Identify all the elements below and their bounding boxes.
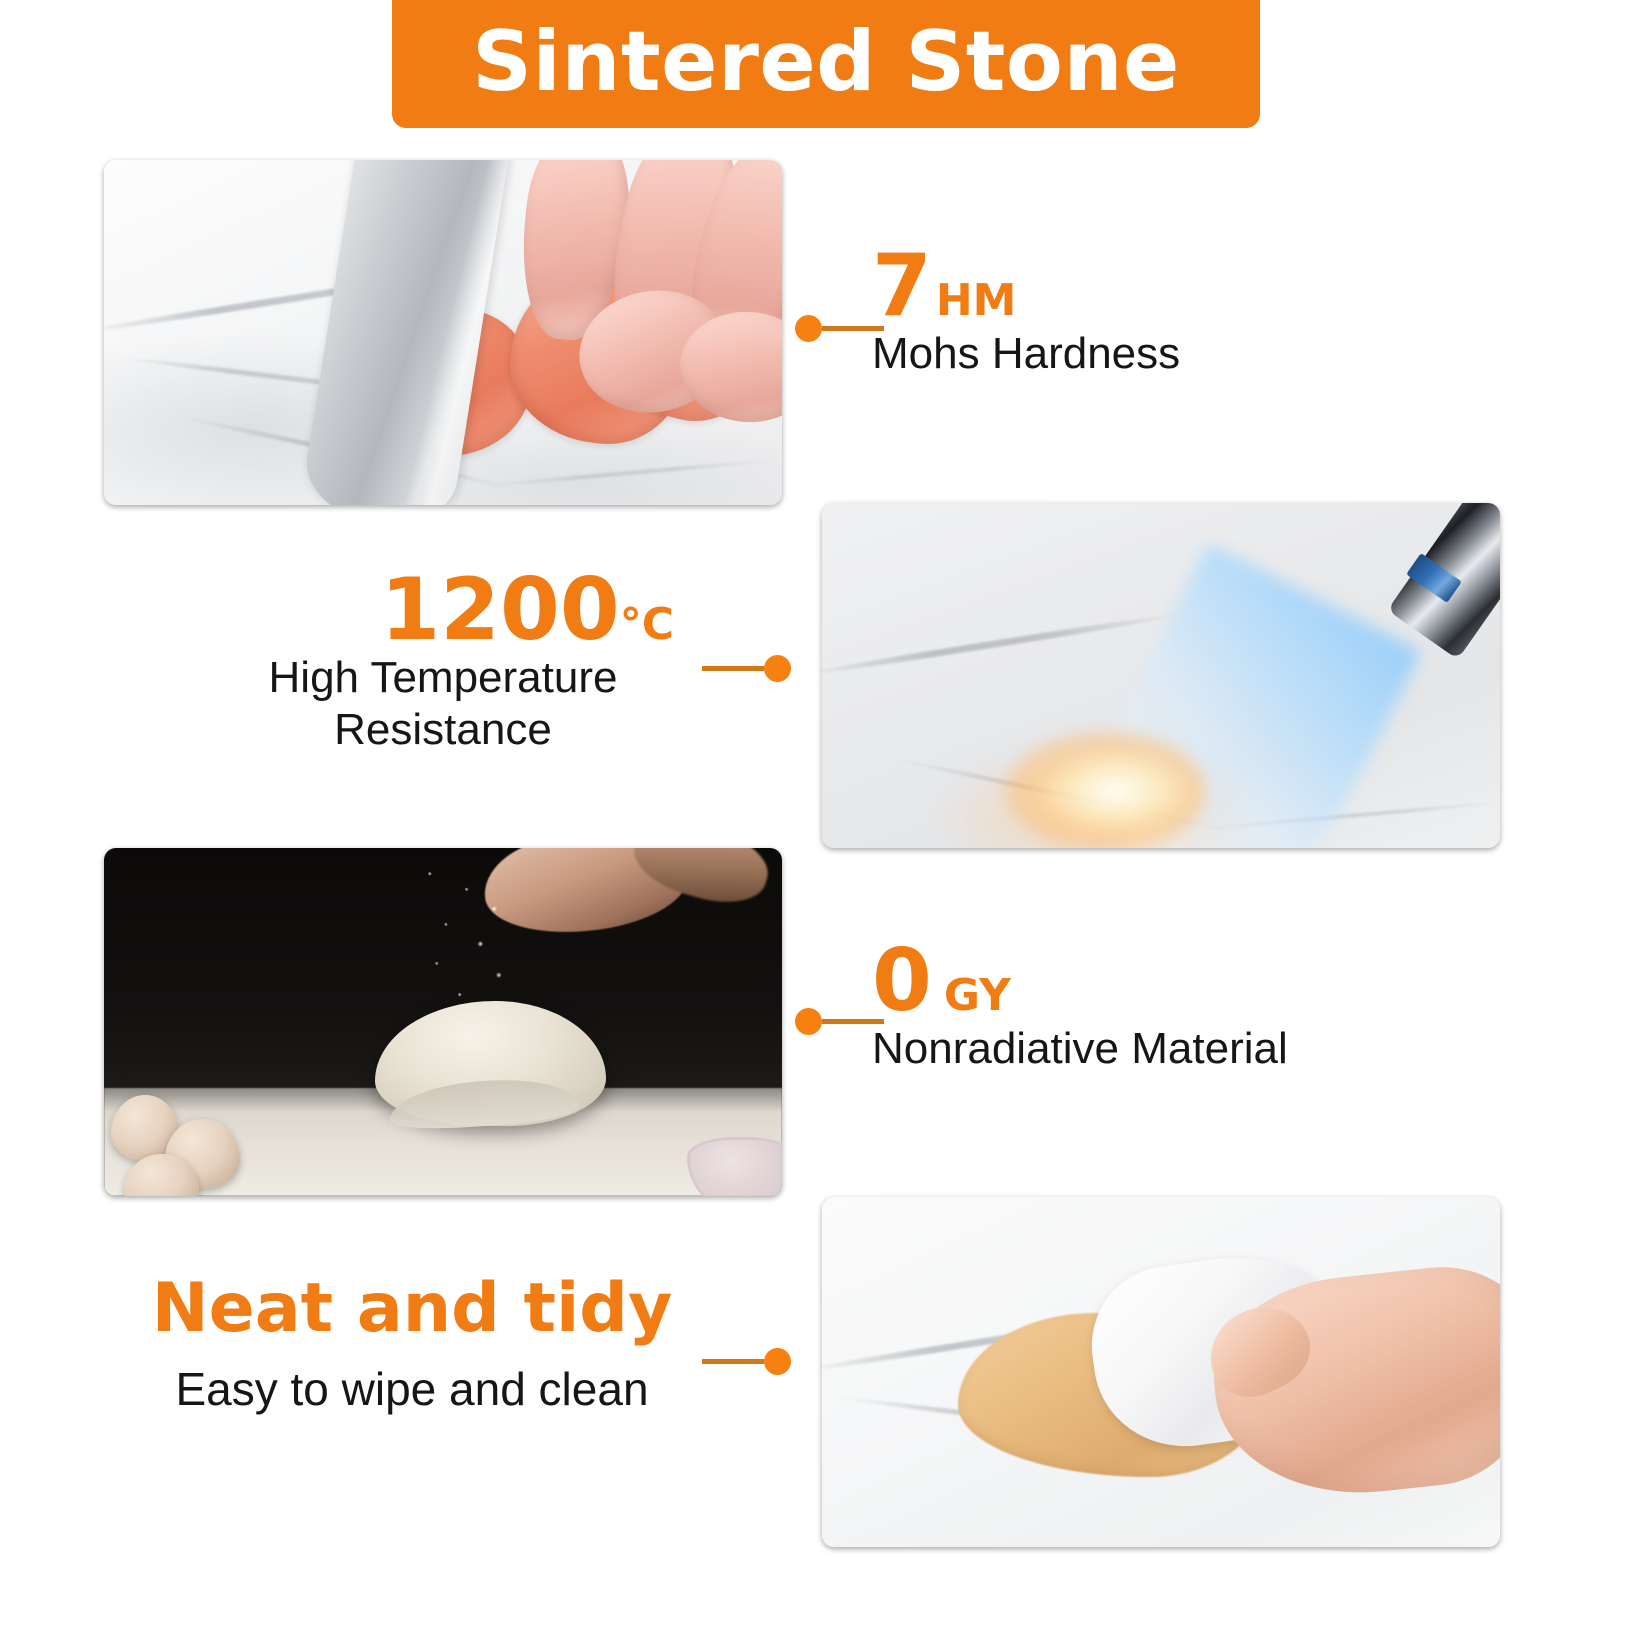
stat-value-mohs-hardness: 7 xyxy=(872,246,932,328)
connector-high-temperature xyxy=(702,655,791,682)
connector-nonradiative xyxy=(795,1008,884,1035)
connector-dot-icon xyxy=(795,315,822,342)
connector-neat-and-tidy xyxy=(702,1348,791,1375)
stat-value-high-temperature: 1200 xyxy=(380,570,619,652)
torch-flame-scene xyxy=(822,503,1500,848)
feature-image-neat-and-tidy xyxy=(822,1197,1500,1547)
connector-dot-icon xyxy=(764,1348,791,1375)
flame-hotspot xyxy=(1005,731,1205,848)
header-banner: Sintered Stone xyxy=(392,0,1260,128)
infographic-poster: Sintered Stone 7 HM xyxy=(0,0,1650,1650)
connector-line xyxy=(702,666,764,671)
stat-unit-nonradiative: GY xyxy=(944,974,1011,1018)
stat-description-mohs-hardness: Mohs Hardness xyxy=(872,328,1180,380)
headline-neat-and-tidy: Neat and tidy xyxy=(148,1273,676,1344)
stat-unit-mohs-hardness: HM xyxy=(936,279,1017,323)
stat-value-row: 0 GY xyxy=(872,941,1288,1023)
glass-bowl xyxy=(687,1137,782,1196)
feature-callout-high-temperature: 1200 °C High Temperature Resistance xyxy=(212,570,674,756)
stat-value-nonradiative: 0 xyxy=(872,941,932,1023)
stat-value-row: 1200 °C xyxy=(212,570,674,652)
page-title: Sintered Stone xyxy=(472,20,1180,109)
stat-description-high-temperature-line1: High Temperature xyxy=(212,652,674,704)
feature-callout-mohs-hardness: 7 HM Mohs Hardness xyxy=(872,246,1180,380)
stat-value-row: 7 HM xyxy=(872,246,1180,328)
dough-kneading-scene xyxy=(104,848,782,1196)
feature-callout-nonradiative: 0 GY Nonradiative Material xyxy=(872,941,1288,1075)
wiping-spill-scene xyxy=(822,1197,1500,1547)
stat-description-nonradiative: Nonradiative Material xyxy=(872,1023,1288,1075)
connector-mohs-hardness xyxy=(795,315,884,342)
feature-callout-neat-and-tidy: Neat and tidy Easy to wipe and clean xyxy=(148,1273,676,1418)
stat-description-high-temperature-line2: Resistance xyxy=(212,704,674,756)
marble-board-scene xyxy=(104,160,782,505)
feature-image-high-temperature xyxy=(822,503,1500,848)
subtext-neat-and-tidy: Easy to wipe and clean xyxy=(148,1362,676,1417)
stat-unit-high-temperature: °C xyxy=(620,603,674,647)
connector-line xyxy=(702,1359,764,1364)
feature-image-mohs-hardness xyxy=(104,160,782,505)
connector-dot-icon xyxy=(795,1008,822,1035)
connector-dot-icon xyxy=(764,655,791,682)
feature-image-nonradiative xyxy=(104,848,782,1196)
